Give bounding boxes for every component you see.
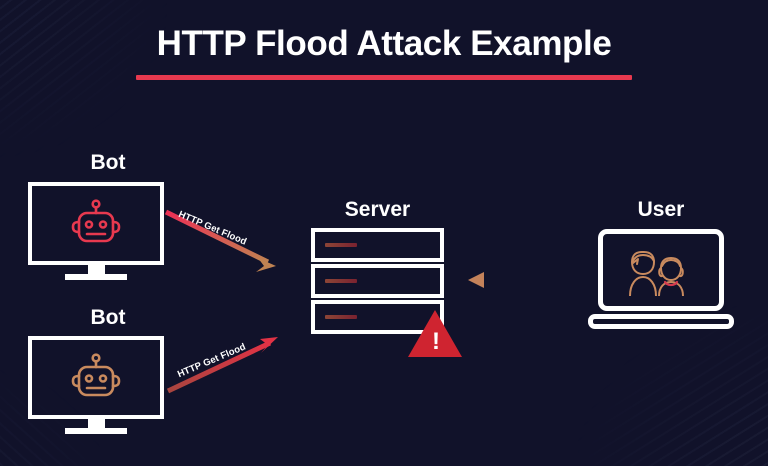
bot-1-monitor-neck: [88, 265, 105, 274]
robot-icon: [68, 353, 124, 403]
edge-bot2-server-label: HTTP Get Flood: [176, 341, 247, 380]
bot-2-monitor-screen: [28, 336, 164, 419]
server-bay: [311, 264, 444, 298]
user-label: User: [598, 198, 724, 222]
edge-user-server-arrow: [462, 266, 597, 294]
edge-bot1-server-label: HTTP Get Flood: [177, 209, 248, 248]
bot-2-monitor-foot: [65, 428, 127, 434]
infographic-canvas: HTTP Flood Attack Example Bot: [0, 0, 768, 466]
robot-icon: [68, 199, 124, 249]
server-bay-led: [325, 315, 357, 319]
server-label: Server: [311, 198, 444, 222]
bot-1-device: [28, 182, 164, 280]
bot-2-monitor-neck: [88, 419, 105, 428]
page-title: HTTP Flood Attack Example: [0, 22, 768, 66]
laptop-base: [588, 314, 734, 329]
server-bay: [311, 228, 444, 262]
title-block: HTTP Flood Attack Example: [0, 22, 768, 80]
bot-2-device: [28, 336, 164, 434]
bot-1-label: Bot: [40, 151, 176, 175]
warning-exclamation-glyph: !: [432, 330, 440, 354]
edge-bot2-server-arrow: [160, 325, 295, 405]
bot-1-monitor-foot: [65, 274, 127, 280]
user-device: [598, 229, 724, 329]
laptop-screen: [598, 229, 724, 311]
bot-1-monitor-screen: [28, 182, 164, 265]
people-icon: [624, 246, 698, 296]
server-bay-led: [325, 243, 357, 247]
server-bay-led: [325, 279, 357, 283]
title-underline-rule: [136, 75, 632, 80]
corner-texture-bottom-right: [578, 306, 768, 466]
bot-2-label: Bot: [40, 306, 176, 330]
